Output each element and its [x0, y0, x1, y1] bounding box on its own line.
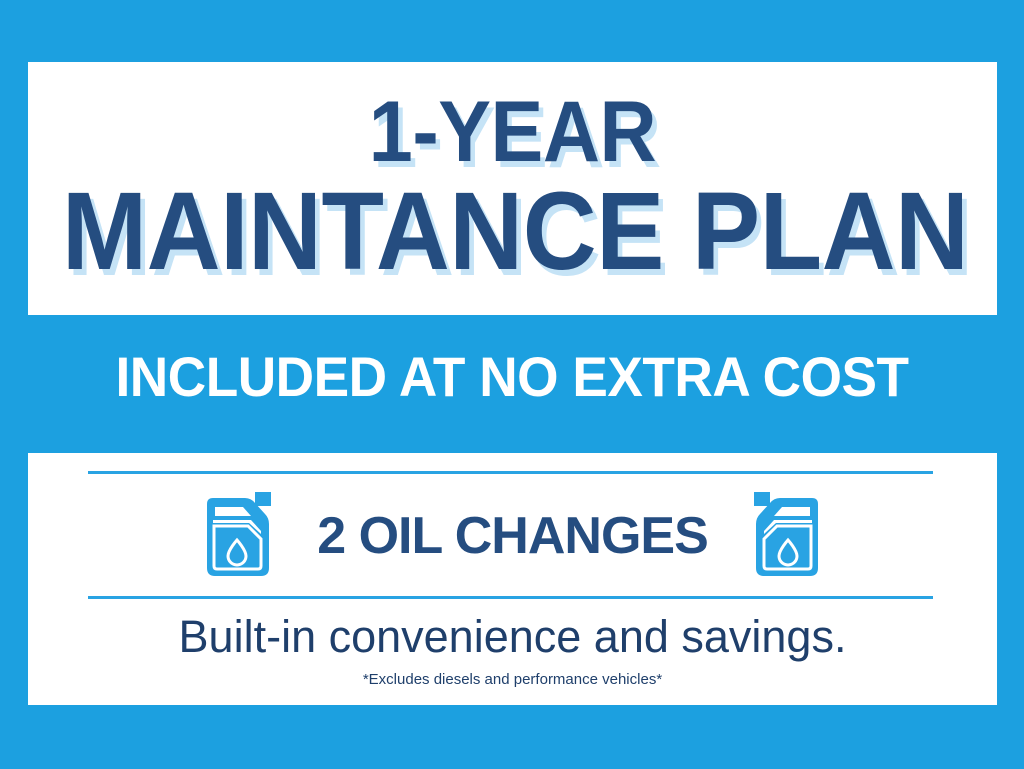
subheading: INCLUDED AT NO EXTRA COST [26, 345, 999, 409]
oil-jug-icon-left [199, 490, 273, 582]
oil-jug-icon-right [752, 490, 826, 582]
feature-row: 2 OIL CHANGES [28, 481, 997, 591]
disclaimer: *Excludes diesels and performance vehicl… [28, 671, 997, 689]
feature-label: 2 OIL CHANGES [317, 508, 708, 564]
promo-poster: 1-YEAR MAINTANCE PLAN INCLUDED AT NO EXT… [0, 0, 1024, 769]
tagline: Built-in convenience and savings. [28, 611, 997, 663]
headline-line-2: MAINTANCE PLAN [62, 172, 963, 292]
divider-top [88, 471, 933, 474]
headline-line-1: 1-YEAR [67, 84, 958, 180]
headline-card: 1-YEAR MAINTANCE PLAN [28, 62, 997, 315]
divider-bottom [88, 596, 933, 599]
details-card: 2 OIL CHANGES Built-in convenience and s… [28, 453, 997, 705]
